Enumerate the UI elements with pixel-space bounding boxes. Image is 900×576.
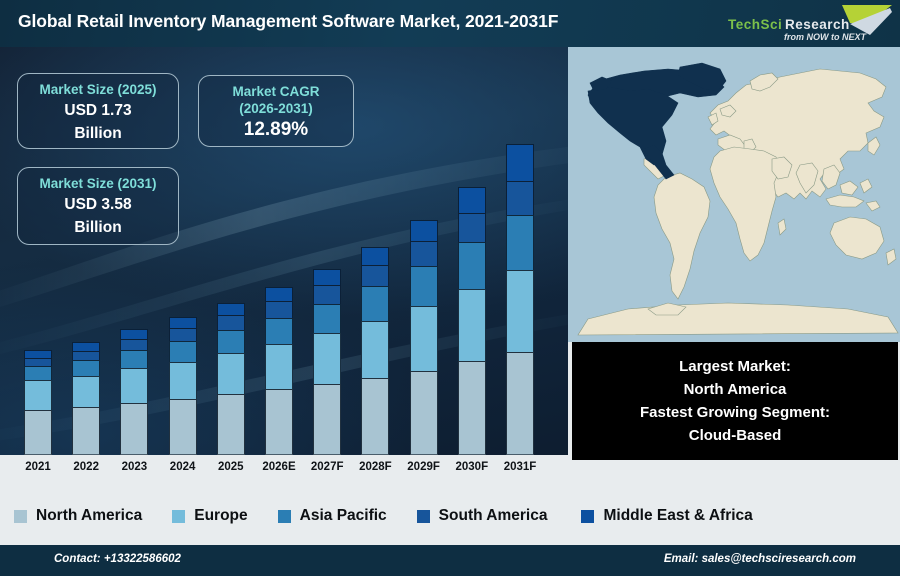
kpi-label-line2: (2026-2031) xyxy=(199,100,353,117)
bar-segment-europe-2027F xyxy=(313,333,341,383)
bar-segment-europe-2031F xyxy=(506,270,534,353)
techsci-research-logo: TechSci Research from NOW to NEXT xyxy=(722,2,894,45)
infographic-page: Global Retail Inventory Management Softw… xyxy=(0,0,900,576)
kpi-value-cagr: 12.89% xyxy=(199,119,353,140)
bar-segment-north-america-2028F xyxy=(361,378,389,455)
bar-segment-south-america-2021 xyxy=(24,358,52,367)
kpi-value-line1: USD 3.58 xyxy=(18,194,178,215)
bar-2030F xyxy=(458,187,486,455)
bar-segment-europe-2021 xyxy=(24,380,52,410)
x-axis-label-2025: 2025 xyxy=(218,461,244,473)
x-axis-label-2030F: 2030F xyxy=(455,461,488,473)
kpi-market-size-2031: Market Size (2031) USD 3.58 Billion xyxy=(17,167,179,245)
bar-segment-middle-east-africa-2022 xyxy=(72,342,100,351)
bar-2027F xyxy=(313,269,341,455)
x-axis-label-2026E: 2026E xyxy=(262,461,295,473)
bar-segment-middle-east-africa-2030F xyxy=(458,187,486,213)
legend-label: Europe xyxy=(194,507,247,525)
bar-segment-asia-pacific-2027F xyxy=(313,304,341,334)
bar-2026E xyxy=(265,287,293,455)
bar-segment-middle-east-africa-2029F xyxy=(410,220,438,242)
legend-swatch-icon xyxy=(417,510,430,523)
bar-segment-asia-pacific-2024 xyxy=(169,341,197,362)
bar-segment-middle-east-africa-2023 xyxy=(120,329,148,339)
kpi-value-line1: USD 1.73 xyxy=(18,100,178,121)
bar-segment-middle-east-africa-2026E xyxy=(265,287,293,301)
world-map xyxy=(568,47,900,342)
bar-segment-europe-2029F xyxy=(410,306,438,370)
bar-segment-asia-pacific-2031F xyxy=(506,215,534,270)
legend-label: Middle East & Africa xyxy=(603,507,752,525)
x-axis-label-2023: 2023 xyxy=(122,461,148,473)
bar-segment-south-america-2023 xyxy=(120,339,148,350)
callout-box: Largest Market: North America Fastest Gr… xyxy=(572,342,898,460)
chart-legend: North AmericaEuropeAsia PacificSouth Ame… xyxy=(0,487,900,545)
bar-segment-europe-2022 xyxy=(72,376,100,407)
bar-segment-asia-pacific-2028F xyxy=(361,286,389,321)
bar-segment-middle-east-africa-2021 xyxy=(24,350,52,358)
bar-2021 xyxy=(24,350,52,455)
bar-segment-north-america-2030F xyxy=(458,361,486,455)
bar-segment-north-america-2025 xyxy=(217,394,245,455)
legend-label: North America xyxy=(36,507,142,525)
bar-segment-north-america-2021 xyxy=(24,410,52,455)
svg-text:TechSci: TechSci xyxy=(728,17,782,32)
kpi-value-line2: Billion xyxy=(18,217,178,238)
bar-segment-middle-east-africa-2031F xyxy=(506,144,534,181)
x-axis: 202120222023202420252026E2027F2028F2029F… xyxy=(0,455,568,487)
kpi-label: Market Size (2025) xyxy=(18,81,178,98)
x-axis-label-2024: 2024 xyxy=(170,461,196,473)
kpi-label: Market Size (2031) xyxy=(18,175,178,192)
legend-label: South America xyxy=(439,507,548,525)
bar-segment-europe-2025 xyxy=(217,353,245,394)
callout-line-3: Fastest Growing Segment: xyxy=(572,401,898,424)
bar-2023 xyxy=(120,329,148,455)
legend-swatch-icon xyxy=(172,510,185,523)
legend-swatch-icon xyxy=(581,510,594,523)
x-axis-label-2031F: 2031F xyxy=(504,461,537,473)
bar-2025 xyxy=(217,303,245,455)
bar-segment-south-america-2025 xyxy=(217,315,245,330)
bar-segment-south-america-2022 xyxy=(72,351,100,361)
bar-segment-middle-east-africa-2025 xyxy=(217,303,245,315)
kpi-market-cagr: Market CAGR (2026-2031) 12.89% xyxy=(198,75,354,147)
kpi-label-line1: Market CAGR xyxy=(199,83,353,100)
bar-segment-south-america-2024 xyxy=(169,328,197,341)
bar-segment-north-america-2022 xyxy=(72,407,100,455)
legend-item-middle-east-africa[interactable]: Middle East & Africa xyxy=(581,507,752,525)
bar-segment-south-america-2027F xyxy=(313,285,341,304)
bar-2028F xyxy=(361,247,389,455)
bar-segment-middle-east-africa-2024 xyxy=(169,317,197,328)
bar-segment-asia-pacific-2029F xyxy=(410,266,438,306)
bar-segment-south-america-2031F xyxy=(506,181,534,215)
bar-segment-south-america-2028F xyxy=(361,265,389,287)
bar-segment-europe-2023 xyxy=(120,368,148,403)
page-title: Global Retail Inventory Management Softw… xyxy=(18,11,558,32)
legend-item-asia-pacific[interactable]: Asia Pacific xyxy=(278,507,387,525)
callout-line-4: Cloud-Based xyxy=(572,424,898,447)
bar-segment-middle-east-africa-2027F xyxy=(313,269,341,285)
header-bar: Global Retail Inventory Management Softw… xyxy=(0,0,900,47)
bar-segment-north-america-2031F xyxy=(506,352,534,455)
legend-swatch-icon xyxy=(278,510,291,523)
bar-segment-south-america-2030F xyxy=(458,213,486,242)
svg-text:from NOW to NEXT: from NOW to NEXT xyxy=(784,32,867,42)
kpi-value-line2: Billion xyxy=(18,123,178,144)
footer-contact: Contact: +13322586602 xyxy=(54,553,181,565)
x-axis-label-2021: 2021 xyxy=(25,461,51,473)
callout-line-1: Largest Market: xyxy=(572,355,898,378)
svg-text:Research: Research xyxy=(785,17,850,32)
legend-label: Asia Pacific xyxy=(300,507,387,525)
bar-segment-south-america-2026E xyxy=(265,301,293,318)
bar-segment-asia-pacific-2022 xyxy=(72,360,100,376)
bar-segment-asia-pacific-2021 xyxy=(24,366,52,380)
bar-segment-north-america-2024 xyxy=(169,399,197,455)
x-axis-label-2022: 2022 xyxy=(73,461,99,473)
bar-segment-asia-pacific-2023 xyxy=(120,350,148,368)
legend-item-europe[interactable]: Europe xyxy=(172,507,247,525)
world-map-svg xyxy=(568,47,900,342)
bar-segment-europe-2024 xyxy=(169,362,197,399)
bar-segment-europe-2028F xyxy=(361,321,389,377)
bar-2029F xyxy=(410,220,438,455)
bar-2031F xyxy=(506,144,534,455)
legend-swatch-icon xyxy=(14,510,27,523)
bar-segment-europe-2026E xyxy=(265,344,293,389)
legend-item-south-america[interactable]: South America xyxy=(417,507,548,525)
bar-segment-europe-2030F xyxy=(458,289,486,361)
bar-2024 xyxy=(169,317,197,455)
x-axis-label-2027F: 2027F xyxy=(311,461,344,473)
footer-bar: Contact: +13322586602 Email: sales@techs… xyxy=(0,545,900,576)
bar-segment-north-america-2027F xyxy=(313,384,341,455)
legend-item-north-america[interactable]: North America xyxy=(14,507,142,525)
bar-segment-north-america-2029F xyxy=(410,371,438,455)
bar-2022 xyxy=(72,342,100,455)
callout-line-2: North America xyxy=(572,378,898,401)
footer-email: Email: sales@techsciresearch.com xyxy=(664,553,856,565)
bar-segment-asia-pacific-2026E xyxy=(265,318,293,344)
x-axis-label-2028F: 2028F xyxy=(359,461,392,473)
kpi-market-size-2025: Market Size (2025) USD 1.73 Billion xyxy=(17,73,179,149)
bar-segment-south-america-2029F xyxy=(410,241,438,266)
bar-segment-middle-east-africa-2028F xyxy=(361,247,389,265)
bar-segment-asia-pacific-2030F xyxy=(458,242,486,289)
bar-segment-north-america-2026E xyxy=(265,389,293,455)
x-axis-label-2029F: 2029F xyxy=(407,461,440,473)
bar-segment-north-america-2023 xyxy=(120,403,148,455)
bar-segment-asia-pacific-2025 xyxy=(217,330,245,353)
